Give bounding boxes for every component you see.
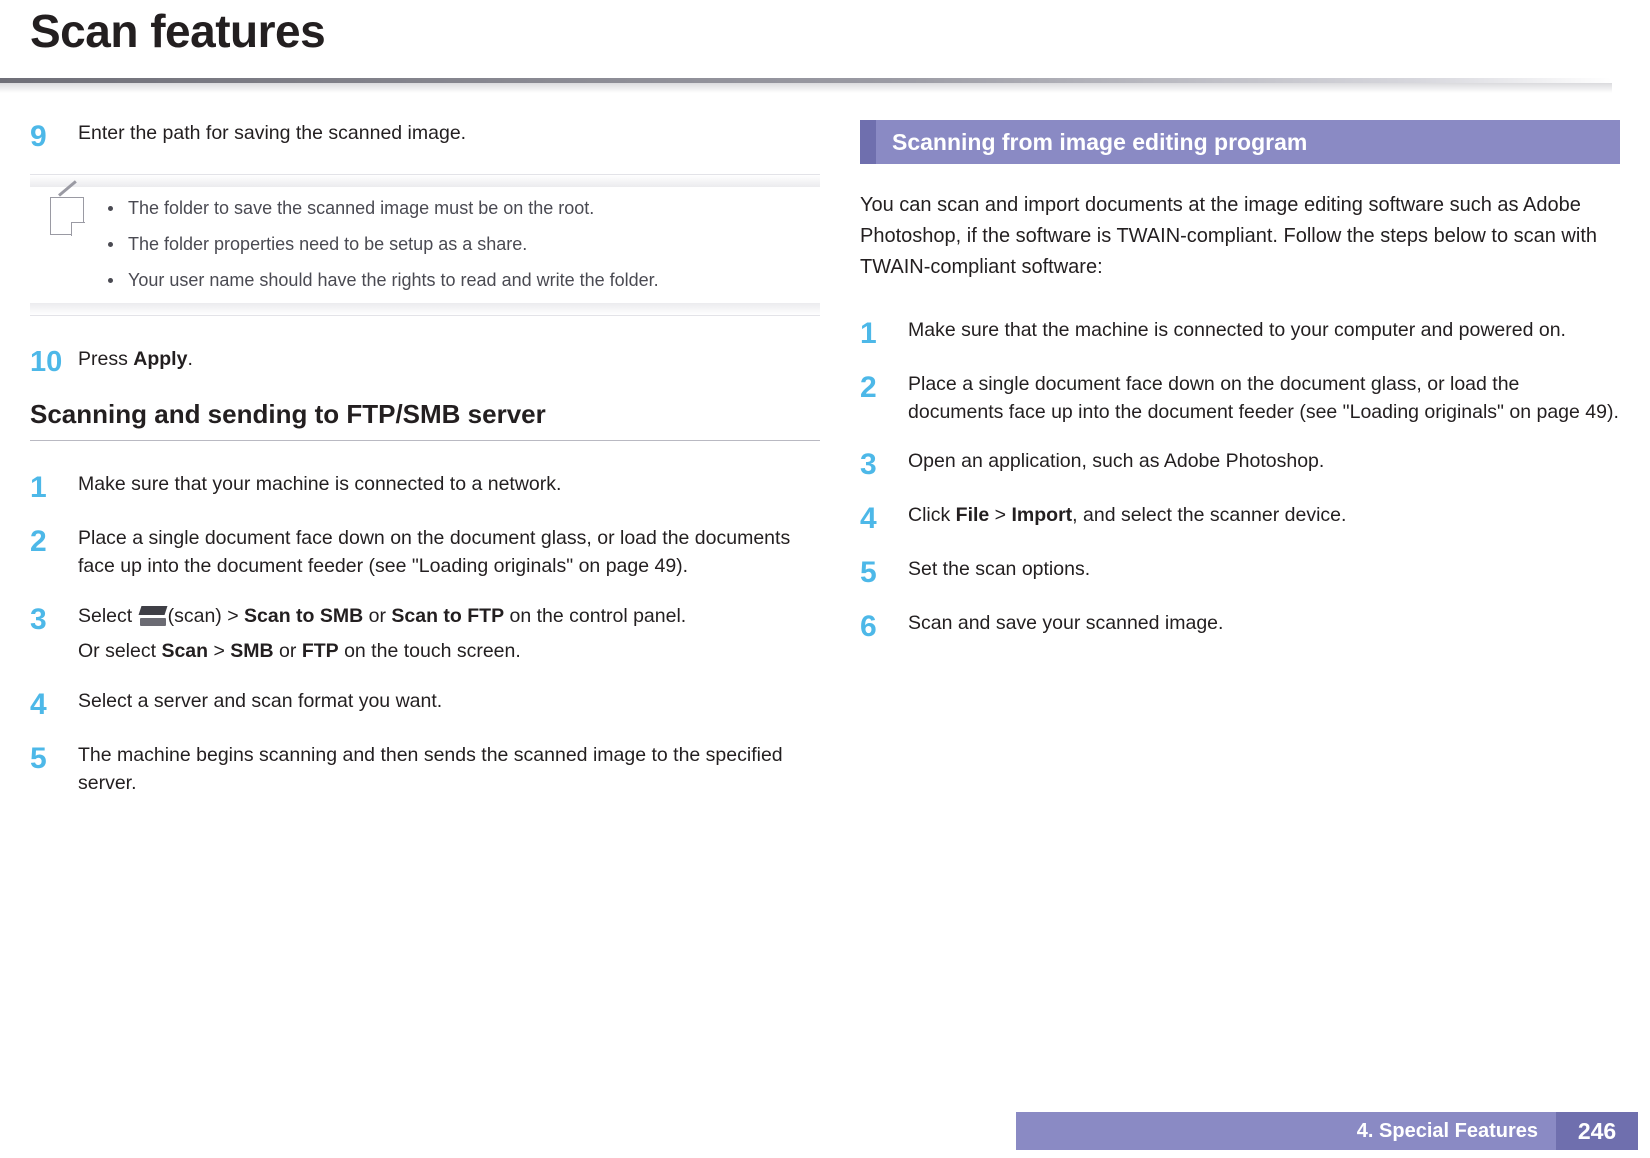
apply-label: Apply (133, 348, 187, 370)
step-text: Place a single document face down on the… (908, 371, 1620, 426)
note-box: The folder to save the scanned image mus… (30, 174, 820, 316)
step-number: 5 (30, 742, 78, 774)
section-bar-tab (860, 120, 876, 164)
touch-screen-suffix: on the touch screen. (339, 640, 521, 662)
step-10: 10 Press Apply. (30, 346, 820, 377)
step-number: 2 (30, 525, 78, 557)
step-text: Place a single document face down on the… (78, 525, 820, 580)
gt-2: > (989, 504, 1011, 526)
scan-to-ftp-label: Scan to FTP (391, 605, 504, 627)
section-heading-ftp-smb: Scanning and sending to FTP/SMB server (30, 399, 820, 430)
note-item: The folder to save the scanned image mus… (104, 195, 800, 221)
twain-step-5-text: Set the scan options. (908, 556, 1620, 584)
step-text: Press Apply. (78, 346, 820, 374)
twain-step-2-text: Place a single document face down on the… (908, 371, 1620, 426)
step-number: 3 (30, 603, 78, 635)
step-text: Scan and save your scanned image. (908, 610, 1620, 638)
twain-step-4-text: Click File > Import, and select the scan… (908, 502, 1620, 530)
pencil-note-icon (50, 197, 84, 235)
import-menu-label: Import (1012, 504, 1073, 526)
footer-chapter-label: 4. Special Features (1016, 1112, 1556, 1150)
ftp-step-1: 1 Make sure that your machine is connect… (30, 471, 820, 503)
ftp-step-4-text: Select a server and scan format you want… (78, 688, 820, 716)
step-number: 4 (860, 502, 908, 534)
step-number: 5 (860, 556, 908, 588)
note-bottom-edge (30, 303, 820, 316)
step-number: 3 (860, 448, 908, 480)
document-page: Scan features 9 Enter the path for savin… (0, 0, 1650, 1158)
note-item: The folder properties need to be setup a… (104, 231, 800, 257)
step-text: Click File > Import, and select the scan… (908, 502, 1620, 530)
twain-step-3: 3 Open an application, such as Adobe Pho… (860, 448, 1620, 480)
twain-step-1-text: Make sure that the machine is connected … (908, 317, 1620, 345)
ftp-step-1-text: Make sure that your machine is connected… (78, 471, 820, 499)
twain-step-4: 4 Click File > Import, and select the sc… (860, 502, 1620, 534)
section-bar-image-editing: Scanning from image editing program (860, 120, 1620, 164)
scanner-icon (140, 606, 166, 626)
smb-label: SMB (230, 640, 273, 662)
section-heading-divider (30, 440, 820, 441)
ftp-label: FTP (302, 640, 339, 662)
control-panel-suffix: on the control panel. (504, 605, 686, 627)
step-text: The machine begins scanning and then sen… (78, 742, 820, 797)
step-10-text: Press Apply. (78, 346, 820, 374)
scan-to-smb-label: Scan to SMB (244, 605, 363, 627)
step-text: Make sure that the machine is connected … (908, 317, 1620, 345)
step-number: 1 (860, 317, 908, 349)
step-number: 4 (30, 688, 78, 720)
step-text: Set the scan options. (908, 556, 1620, 584)
page-title: Scan features (30, 4, 325, 58)
step-text: Open an application, such as Adobe Photo… (908, 448, 1620, 476)
header-divider-shadow (0, 83, 1612, 93)
twain-step-6: 6 Scan and save your scanned image. (860, 610, 1620, 642)
ftp-step-5: 5 The machine begins scanning and then s… (30, 742, 820, 797)
step-number: 10 (30, 346, 78, 377)
step-number: 9 (30, 120, 78, 152)
ftp-step-3-line-1: Select (scan) > Scan to SMB or Scan to F… (78, 603, 820, 631)
ftp-step-3: 3 Select (scan) > Scan to SMB or Scan to… (30, 603, 820, 666)
scanner-device-suffix: , and select the scanner device. (1072, 504, 1346, 526)
step-text: Make sure that your machine is connected… (78, 471, 820, 499)
step-10-prefix: Press (78, 348, 133, 370)
scan-paren: (scan) > (168, 605, 244, 627)
step-number: 2 (860, 371, 908, 403)
twain-step-3-text: Open an application, such as Adobe Photo… (908, 448, 1620, 476)
or-select-prefix: Or select (78, 640, 161, 662)
file-menu-label: File (956, 504, 990, 526)
step-10-suffix: . (187, 348, 192, 370)
note-item: Your user name should have the rights to… (104, 267, 800, 293)
note-icon-slot (30, 195, 104, 293)
step-text: Select a server and scan format you want… (78, 688, 820, 716)
step-text: Enter the path for saving the scanned im… (78, 120, 820, 148)
select-prefix: Select (78, 605, 138, 627)
note-list: The folder to save the scanned image mus… (104, 195, 820, 293)
section-bar-label: Scanning from image editing program (876, 129, 1307, 156)
intro-paragraph: You can scan and import documents at the… (860, 190, 1620, 283)
twain-step-2: 2 Place a single document face down on t… (860, 371, 1620, 426)
twain-step-5: 5 Set the scan options. (860, 556, 1620, 588)
step-number: 6 (860, 610, 908, 642)
scan-label: Scan (161, 640, 208, 662)
step-9-text: Enter the path for saving the scanned im… (78, 120, 820, 148)
ftp-step-5-text: The machine begins scanning and then sen… (78, 742, 820, 797)
ftp-step-4: 4 Select a server and scan format you wa… (30, 688, 820, 720)
right-column: Scanning from image editing program You … (860, 120, 1620, 664)
left-column: 9 Enter the path for saving the scanned … (30, 120, 820, 819)
or-1: or (363, 605, 391, 627)
footer-page-number: 246 (1556, 1112, 1638, 1150)
click-prefix: Click (908, 504, 956, 526)
note-top-edge (30, 174, 820, 187)
twain-step-1: 1 Make sure that the machine is connecte… (860, 317, 1620, 349)
or-2: or (274, 640, 302, 662)
page-footer: 4. Special Features 246 (0, 1112, 1650, 1158)
ftp-step-3-line-2: Or select Scan > SMB or FTP on the touch… (78, 638, 820, 666)
step-number: 1 (30, 471, 78, 503)
step-text: Select (scan) > Scan to SMB or Scan to F… (78, 603, 820, 666)
note-content: The folder to save the scanned image mus… (30, 187, 820, 303)
gt-1: > (208, 640, 230, 662)
step-9: 9 Enter the path for saving the scanned … (30, 120, 820, 152)
twain-step-6-text: Scan and save your scanned image. (908, 610, 1620, 638)
ftp-step-2-text: Place a single document face down on the… (78, 525, 820, 580)
ftp-step-2: 2 Place a single document face down on t… (30, 525, 820, 580)
